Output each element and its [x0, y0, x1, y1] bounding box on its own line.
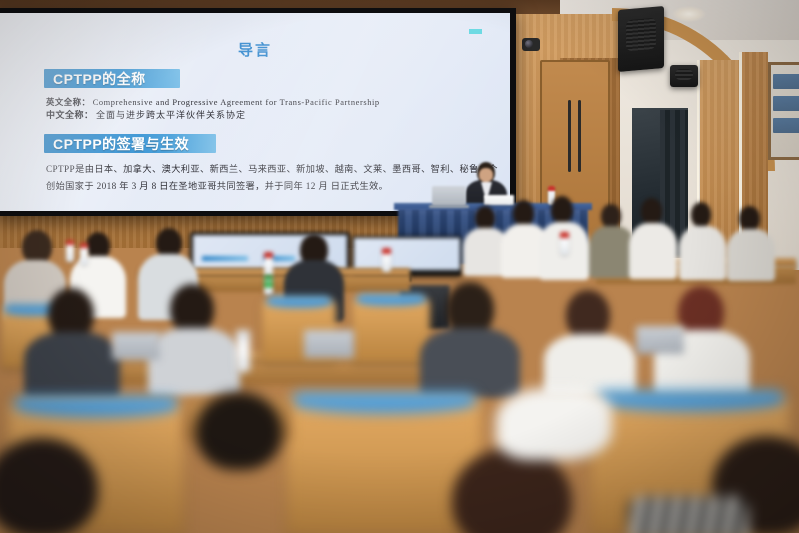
bottle-cap: [264, 252, 273, 258]
water-bottle: [66, 240, 74, 262]
bottle-label: [236, 343, 250, 357]
presenter-face: [479, 168, 493, 182]
water-bottle-clear: [236, 330, 250, 372]
slide-body-paragraph: CPTPP是由日本、加拿大、澳大利亚、新西兰、马来西亚、新加坡、越南、文莱、墨西…: [46, 161, 498, 195]
bottle-cap: [264, 275, 273, 280]
room-background: 导言 CPTPP的全称 英文全称： Comprehensive and Prog…: [0, 0, 799, 533]
water-bottle: [264, 252, 273, 276]
audience-head: [513, 200, 534, 226]
notice-board: [768, 62, 799, 160]
notice-board-row-1: [773, 74, 799, 89]
audience-head-foreground: [0, 438, 98, 533]
audience-head: [551, 196, 573, 223]
bottle-cap: [80, 243, 88, 248]
audience-striped-shirt: [628, 496, 748, 533]
speaker-grille-2: [675, 69, 693, 80]
audience-laptop: [636, 326, 684, 354]
audience-head: [475, 206, 495, 230]
audience-laptop: [112, 332, 160, 360]
audience-head-foreground: [196, 392, 282, 470]
bottle-cap: [236, 330, 250, 340]
bottle-label: [382, 255, 391, 263]
speaker-icon-2: [670, 65, 698, 87]
slide-cyan-marker: [469, 29, 482, 34]
audience-head: [691, 202, 711, 227]
notice-board-row-3: [773, 118, 799, 133]
slide-heading-1: CPTPP的全称: [44, 69, 180, 88]
slide-cn-label: 中文全称：: [46, 110, 94, 120]
audience-white-sleeve: [496, 388, 612, 460]
audience-body: [420, 328, 520, 398]
audience-head-foreground: [452, 448, 572, 533]
bottle-label: [264, 259, 273, 267]
audience-body: [148, 328, 240, 396]
slide-en-label: 英文全称：: [46, 98, 90, 107]
audience-head: [566, 290, 610, 340]
lecture-hall-screenshot: 导言 CPTPP的全称 英文全称： Comprehensive and Prog…: [0, 0, 799, 533]
audience-body: [24, 332, 120, 398]
slide-cn-value: 全面与进步跨太平洋伙伴关系协定: [96, 110, 246, 120]
door-handle-left: [568, 100, 571, 172]
ceiling-light-1: [672, 6, 706, 22]
bottle-label: [560, 239, 569, 247]
bottle-label: [66, 247, 74, 254]
bottle-label: [80, 250, 88, 257]
audience-head: [739, 206, 760, 231]
speaker-grille: [626, 18, 655, 52]
audience-head: [601, 204, 621, 228]
slide-title: 导言: [0, 39, 510, 60]
slide-heading-2: CPTPP的签署与生效: [44, 134, 216, 153]
audience-head: [641, 198, 662, 224]
notice-board-row-2: [773, 96, 799, 111]
audience-body: [629, 223, 677, 279]
bottle-cap: [66, 240, 74, 245]
speaker-icon: [618, 6, 664, 72]
projection-screen-frame: 导言 CPTPP的全称 英文全称： Comprehensive and Prog…: [0, 8, 516, 216]
stage-bottle-cap: [548, 186, 555, 191]
bottle-cap: [382, 248, 391, 254]
door-handle-right: [578, 100, 581, 172]
projection-screen: 导言 CPTPP的全称 英文全称： Comprehensive and Prog…: [0, 13, 510, 211]
audience-body: [679, 226, 726, 280]
bottle-cap: [560, 232, 569, 238]
water-bottle: [560, 232, 569, 255]
slide-en-line: 英文全称： Comprehensive and Progressive Agre…: [46, 96, 496, 109]
audience-head: [170, 284, 214, 334]
slide-cn-line: 中文全称： 全面与进步跨太平洋伙伴关系协定: [46, 109, 496, 123]
camera-icon: [522, 38, 540, 51]
water-bottle: [80, 243, 88, 265]
audience-foreground: [0, 392, 799, 533]
audience-body: [727, 229, 775, 281]
water-bottle: [382, 248, 391, 272]
slide-en-value: Comprehensive and Progressive Agreement …: [93, 98, 380, 107]
audience-head: [22, 230, 52, 264]
audience-laptop: [304, 330, 354, 358]
